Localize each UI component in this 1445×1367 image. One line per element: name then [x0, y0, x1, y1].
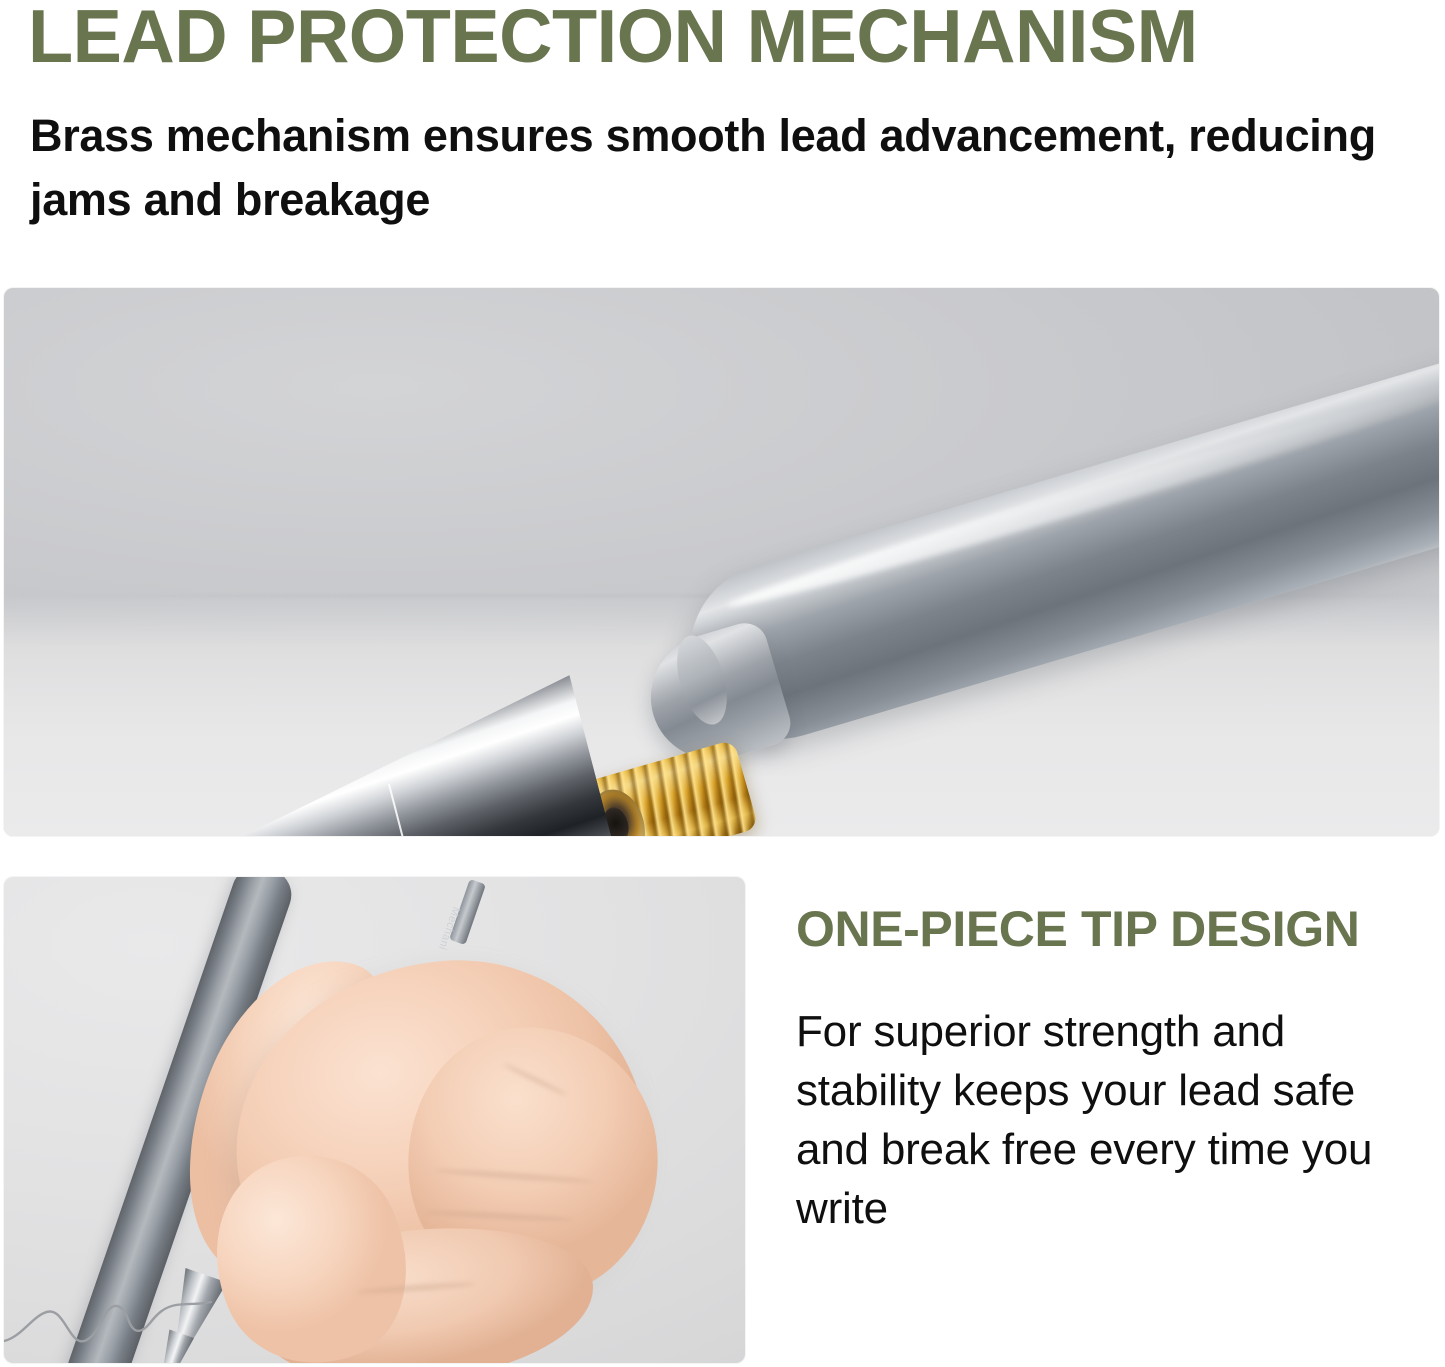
- section-body: For superior strength and stability keep…: [796, 1002, 1426, 1238]
- header-block: LEAD PROTECTION MECHANISM Brass mechanis…: [0, 0, 1445, 280]
- page-subtitle: Brass mechanism ensures smooth lead adva…: [30, 104, 1440, 232]
- writing-demo-photo: Mechani: [4, 877, 745, 1363]
- wavy-pencil-line: [4, 1247, 304, 1363]
- mechanism-product-photo: [4, 288, 1439, 836]
- section-title: ONE-PIECE TIP DESIGN: [796, 900, 1426, 958]
- page-title: LEAD PROTECTION MECHANISM: [28, 0, 1407, 76]
- one-piece-tip-section: ONE-PIECE TIP DESIGN For superior streng…: [796, 900, 1426, 1238]
